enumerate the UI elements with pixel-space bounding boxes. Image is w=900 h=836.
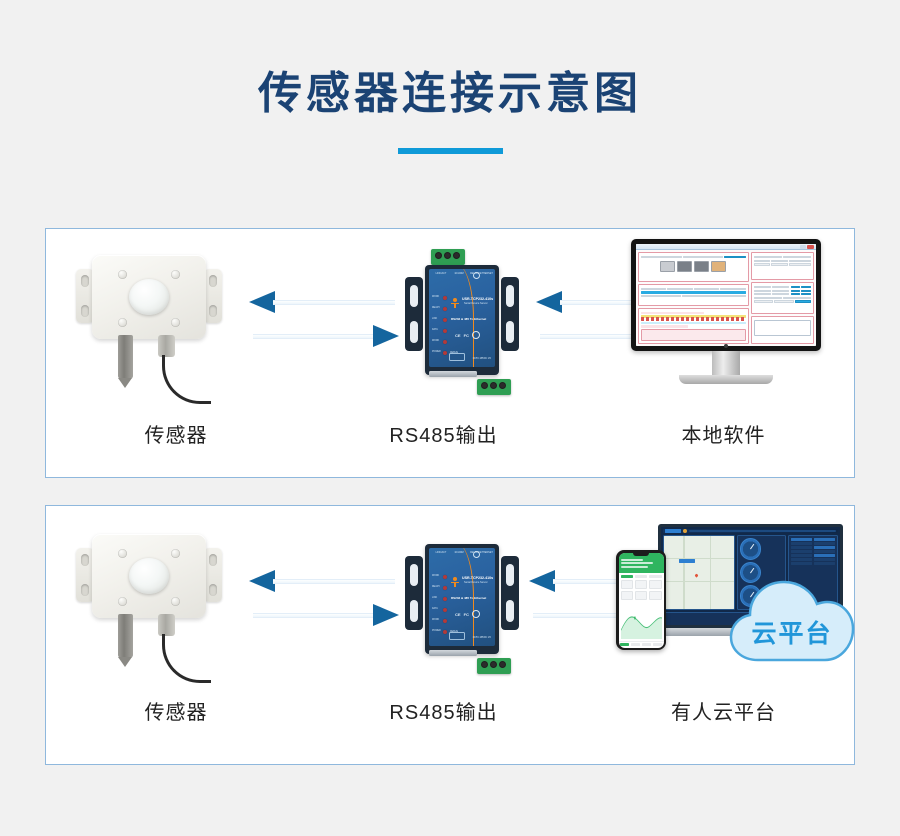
stat-tile bbox=[621, 580, 634, 589]
usb-port-icon bbox=[449, 632, 465, 640]
converter-model: USR-TCP232-410s bbox=[462, 297, 493, 301]
diagram-stage-cloud: LINK/ACT 10/100M RELOAD ETHERNET WORK RE… bbox=[46, 506, 854, 696]
cloud-shape: 云平台 bbox=[728, 576, 856, 664]
converter-port-labels: LINK/ACT 10/100M RELOAD ETHERNET bbox=[432, 272, 492, 284]
led-label: WORK bbox=[432, 619, 439, 621]
screw-icon bbox=[118, 549, 127, 558]
sensor-mount-ear-right bbox=[204, 548, 222, 602]
terminal-block-bottom bbox=[477, 658, 511, 674]
sensor-cable-gland bbox=[158, 335, 175, 357]
sensor-dome-lens bbox=[129, 279, 169, 315]
led-label: WORK bbox=[432, 575, 439, 577]
converter-spec: RS232 & 485 To Ethernet bbox=[451, 596, 486, 600]
converter-mount-ear-right bbox=[501, 277, 519, 351]
arrow-right bbox=[249, 325, 399, 347]
converter-subtitle: Serial Device Server bbox=[464, 302, 488, 305]
diagram-labels-local: 传感器 RS485输出 本地软件 bbox=[46, 419, 854, 467]
converter-model: USR-TCP232-410s bbox=[462, 576, 493, 580]
converter-mount-ear-left bbox=[405, 277, 423, 351]
sensor-probe bbox=[118, 614, 133, 658]
db9-serial-connector bbox=[429, 371, 477, 377]
converter-subtitle: Serial Device Server bbox=[464, 581, 488, 584]
software-group-log bbox=[638, 308, 749, 344]
phone-screen bbox=[619, 553, 664, 648]
title-underline-rule bbox=[398, 148, 503, 154]
software-left-column bbox=[638, 252, 749, 344]
led-label: READY bbox=[432, 307, 440, 309]
phone-tab[interactable] bbox=[635, 575, 648, 578]
arrow-left bbox=[249, 570, 399, 592]
led-indicator-icon bbox=[443, 630, 447, 634]
certification-marks: CE FC bbox=[455, 331, 480, 339]
arrow-right bbox=[249, 604, 399, 626]
led-label: DATA bbox=[432, 608, 438, 610]
led-indicator-icon bbox=[443, 586, 447, 590]
led-label: DATA bbox=[432, 329, 438, 331]
phone-bottom-nav[interactable] bbox=[619, 641, 664, 648]
power-port-label: DC5V 485/DC I/O bbox=[473, 637, 491, 640]
rs485-converter-device: LINK/ACT 10/100M RELOAD ETHERNET WORK RE… bbox=[403, 247, 521, 397]
led-label: LINK bbox=[432, 318, 437, 320]
minimize-button[interactable] bbox=[800, 245, 806, 249]
led-label: WORK bbox=[432, 296, 439, 298]
node-label-rs485: RS485输出 bbox=[321, 696, 566, 725]
node-label-rs485: RS485输出 bbox=[321, 419, 566, 448]
converter-led-stack: WORK READY LINK DATA WORK POWER bbox=[432, 293, 448, 359]
sensor-cable-gland bbox=[158, 614, 175, 636]
cloud-label: 云平台 bbox=[728, 614, 856, 650]
stat-tile bbox=[649, 591, 662, 600]
diagram-panel-local-software: LINK/ACT 10/100M RELOAD ETHERNET WORK RE… bbox=[45, 228, 855, 478]
gauge-icon bbox=[740, 538, 762, 560]
nav-item-data[interactable] bbox=[631, 643, 640, 646]
software-group-console bbox=[751, 316, 814, 344]
usr-logo-icon bbox=[451, 298, 459, 308]
page-header: 传感器连接示意图 bbox=[0, 0, 900, 154]
screw-icon bbox=[118, 597, 127, 606]
converter-led-stack: WORK READY LINK DATA WORK POWER bbox=[432, 572, 448, 638]
db9-serial-connector bbox=[429, 650, 477, 656]
fcc-mark-icon: FC bbox=[464, 612, 469, 617]
led-label: WORK bbox=[432, 340, 439, 342]
monitor-stand-neck bbox=[712, 351, 740, 377]
screw-icon bbox=[171, 270, 180, 279]
arrow-pair-sensor-converter bbox=[249, 291, 399, 353]
led-indicator-icon bbox=[443, 318, 447, 322]
power-port-label: DC5V 485/DC I/O bbox=[473, 358, 491, 361]
diagram-panel-cloud-platform: LINK/ACT 10/100M RELOAD ETHERNET WORK RE… bbox=[45, 505, 855, 765]
rohs-mark-icon bbox=[472, 331, 480, 339]
led-indicator-icon bbox=[443, 307, 447, 311]
usr-logo-icon bbox=[451, 577, 459, 587]
sensor-mount-ear-right bbox=[204, 269, 222, 323]
node-label-cloud-platform: 有人云平台 bbox=[616, 696, 831, 725]
led-label: POWER bbox=[432, 630, 441, 632]
sensor-device bbox=[74, 247, 224, 407]
led-indicator-icon bbox=[443, 575, 447, 579]
monitor-bezel bbox=[631, 239, 821, 351]
port-label-net: ETHERNET bbox=[480, 272, 491, 275]
phone-notch bbox=[633, 553, 649, 556]
led-label: POWER bbox=[432, 351, 441, 353]
led-indicator-icon bbox=[443, 608, 447, 612]
port-label-work: 10/100M bbox=[451, 272, 467, 275]
fcc-mark-icon: FC bbox=[464, 333, 469, 338]
ce-mark-icon: CE bbox=[455, 333, 461, 338]
node-label-sensor: 传感器 bbox=[76, 419, 276, 448]
diagram-stage-local: LINK/ACT 10/100M RELOAD ETHERNET WORK RE… bbox=[46, 229, 854, 419]
led-indicator-icon bbox=[443, 329, 447, 333]
software-group-params bbox=[638, 284, 749, 306]
converter-port-labels: LINK/ACT 10/100M RELOAD ETHERNET bbox=[432, 551, 492, 563]
led-indicator-icon bbox=[443, 340, 447, 344]
led-indicator-icon bbox=[443, 351, 447, 355]
nav-item-me[interactable] bbox=[653, 643, 662, 646]
ce-mark-icon: CE bbox=[455, 612, 461, 617]
close-button[interactable] bbox=[807, 245, 814, 249]
converter-mount-ear-left bbox=[405, 556, 423, 630]
led-label: READY bbox=[432, 586, 440, 588]
rohs-mark-icon bbox=[472, 610, 480, 618]
phone-summary-card bbox=[619, 557, 664, 573]
port-label-link: LINK/ACT bbox=[433, 551, 449, 554]
avatar bbox=[683, 529, 687, 533]
page-title: 传感器连接示意图 bbox=[0, 72, 900, 116]
cloud-platform-cluster: 云平台 bbox=[616, 524, 851, 674]
terminal-block-bottom bbox=[477, 379, 511, 395]
software-group-mode bbox=[751, 252, 814, 280]
stat-tile bbox=[635, 591, 648, 600]
monitor-power-led bbox=[724, 344, 728, 348]
phone-stat-tiles bbox=[619, 580, 664, 591]
led-indicator-icon bbox=[443, 619, 447, 623]
port-label-link: LINK/ACT bbox=[433, 272, 449, 275]
sensor-device bbox=[74, 526, 224, 686]
sensor-cable bbox=[162, 355, 211, 404]
dashboard-nav[interactable] bbox=[689, 530, 836, 532]
screw-icon bbox=[118, 270, 127, 279]
software-right-column bbox=[751, 252, 814, 344]
terminal-block-top bbox=[431, 249, 465, 265]
port-label-net: ETHERNET bbox=[480, 551, 491, 554]
phone-tab-active[interactable] bbox=[621, 575, 634, 578]
nav-item-home[interactable] bbox=[620, 643, 629, 646]
stat-tile bbox=[621, 591, 634, 600]
led-label: LINK bbox=[432, 597, 437, 599]
certification-marks: CE FC bbox=[455, 610, 480, 618]
arrow-left bbox=[249, 291, 399, 313]
software-group-device bbox=[638, 252, 749, 282]
stat-tile bbox=[635, 580, 648, 589]
converter-mount-ear-right bbox=[501, 556, 519, 630]
nav-item-alarm[interactable] bbox=[642, 643, 651, 646]
converter-faceplate: LINK/ACT 10/100M RELOAD ETHERNET WORK RE… bbox=[429, 548, 495, 646]
sensor-probe bbox=[118, 335, 133, 379]
local-software-window bbox=[636, 244, 816, 346]
led-indicator-icon bbox=[443, 296, 447, 300]
sensor-dome-lens bbox=[129, 558, 169, 594]
software-body bbox=[636, 250, 816, 346]
usb-port-icon bbox=[449, 353, 465, 361]
phone-area-chart bbox=[619, 602, 664, 641]
rs485-converter-device: LINK/ACT 10/100M RELOAD ETHERNET WORK RE… bbox=[403, 526, 521, 676]
phone-stat-tiles bbox=[619, 591, 664, 602]
dashboard-logo-icon bbox=[665, 529, 681, 533]
software-group-settings bbox=[751, 282, 814, 314]
dashboard-header bbox=[663, 529, 838, 533]
converter-faceplate: LINK/ACT 10/100M RELOAD ETHERNET WORK RE… bbox=[429, 269, 495, 367]
node-label-sensor: 传感器 bbox=[76, 696, 276, 725]
monitor-screen bbox=[636, 244, 816, 346]
port-label-work: 10/100M bbox=[451, 551, 467, 554]
mobile-phone-device bbox=[616, 550, 666, 650]
sensor-cable bbox=[162, 634, 211, 683]
screw-icon bbox=[171, 549, 180, 558]
dashboard-map-panel bbox=[663, 535, 735, 610]
monitor-stand-base bbox=[679, 375, 773, 384]
phone-tab-bar[interactable] bbox=[619, 573, 664, 580]
node-label-local-software: 本地软件 bbox=[616, 419, 831, 448]
screw-icon bbox=[118, 318, 127, 327]
led-indicator-icon bbox=[443, 597, 447, 601]
screw-icon bbox=[171, 597, 180, 606]
desktop-monitor bbox=[631, 239, 821, 399]
phone-tab[interactable] bbox=[649, 575, 662, 578]
stat-tile bbox=[649, 580, 662, 589]
arrow-pair-sensor-converter bbox=[249, 570, 399, 632]
screw-icon bbox=[171, 318, 180, 327]
converter-spec: RS232 & 485 To Ethernet bbox=[451, 317, 486, 321]
diagram-labels-cloud: 传感器 RS485输出 有人云平台 bbox=[46, 696, 854, 744]
